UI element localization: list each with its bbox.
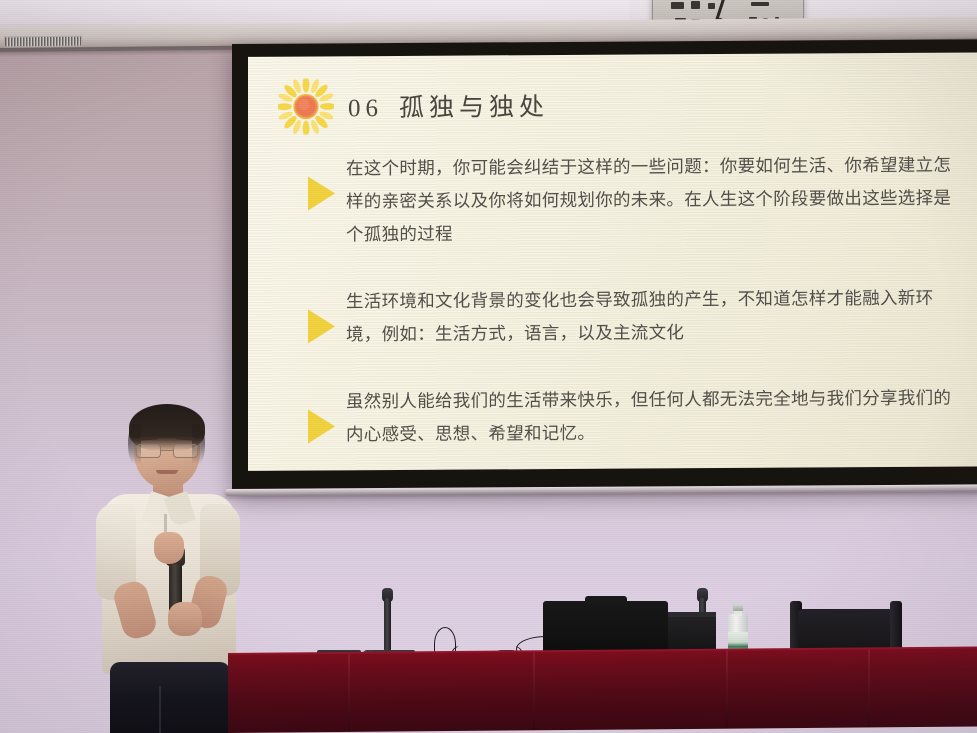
slide-bullet-text: 在这个时期，你可能会纠结于这样的一些问题：你要如何生活、你希望建立怎样的亲密关系… [346,149,964,252]
sunflower-icon [278,78,334,134]
glasses-icon [136,444,198,459]
glasses-bridge [161,450,173,451]
slide-bullet-item: 在这个时期，你可能会纠结于这样的一些问题：你要如何生活、你希望建立怎样的亲密关系… [304,149,964,252]
slide-bullet-item: 生活环境和文化背景的变化也会导致孤独的产生，不知道怎样才能融入新环境，例如：生活… [304,282,964,352]
slide-bullet-item: 虽然别人能给我们的生活带来快乐，但任何人都无法完全地与我们分享我们的内心感受、思… [304,382,964,452]
projection-screen-surface: 06孤独与独处 在这个时期，你可能会纠结于这样的一些问题：你要如何生活、你希望建… [248,52,977,471]
microphone-neck [384,598,391,652]
arrow-bullet-icon [308,409,335,443]
projector-port [751,2,769,6]
air-vent-grille [4,36,82,48]
cloth-fold [726,651,728,729]
glasses-lens [136,444,161,458]
bottle-cap [733,604,743,611]
slide-header: 06孤独与独处 [278,77,549,135]
slide-bullet-list: 在这个时期，你可能会纠结于这样的一些问题：你要如何生活、你希望建立怎样的亲密关系… [304,149,964,452]
side-box-top-edge [668,612,716,617]
projector-port [691,1,700,9]
projection-screen-frame: 06孤独与独处 在这个时期，你可能会纠结于这样的一些问题：你要如何生活、你希望建… [232,39,977,492]
presentation-slide: 06孤独与独处 在这个时期，你可能会纠结于这样的一些问题：你要如何生活、你希望建… [248,52,977,471]
glasses-lens [173,444,198,458]
lecture-hall-scene: 06孤独与独处 在这个时期，你可能会纠结于这样的一些问题：你要如何生活、你希望建… [0,0,977,733]
slide-title-number: 06 [348,95,383,122]
projector-port [671,2,684,9]
presenter-leg-seam [159,686,161,733]
slide-bullet-text: 虽然别人能给我们的生活带来快乐，但任何人都无法完全地与我们分享我们的内心感受、思… [346,382,964,452]
slide-bullet-text: 生活环境和文化背景的变化也会导致孤独的产生，不知道怎样才能融入新环境，例如：生活… [346,282,964,352]
cloth-fold [533,652,535,730]
presenter-hand-upper [154,532,184,564]
presenter-hand-lower [168,602,202,636]
cloth-fold [348,654,350,732]
slide-title: 06孤独与独处 [348,87,549,124]
monitor-top-nub [585,596,627,603]
projector-port [708,3,715,9]
cloth-fold [868,649,870,727]
arrow-bullet-icon [308,176,335,210]
arrow-bullet-icon [308,309,335,343]
presenter-trousers [110,662,230,733]
slide-title-text: 孤独与独处 [399,94,549,122]
table-cloth [228,648,977,733]
presenter-mouth [156,470,178,474]
